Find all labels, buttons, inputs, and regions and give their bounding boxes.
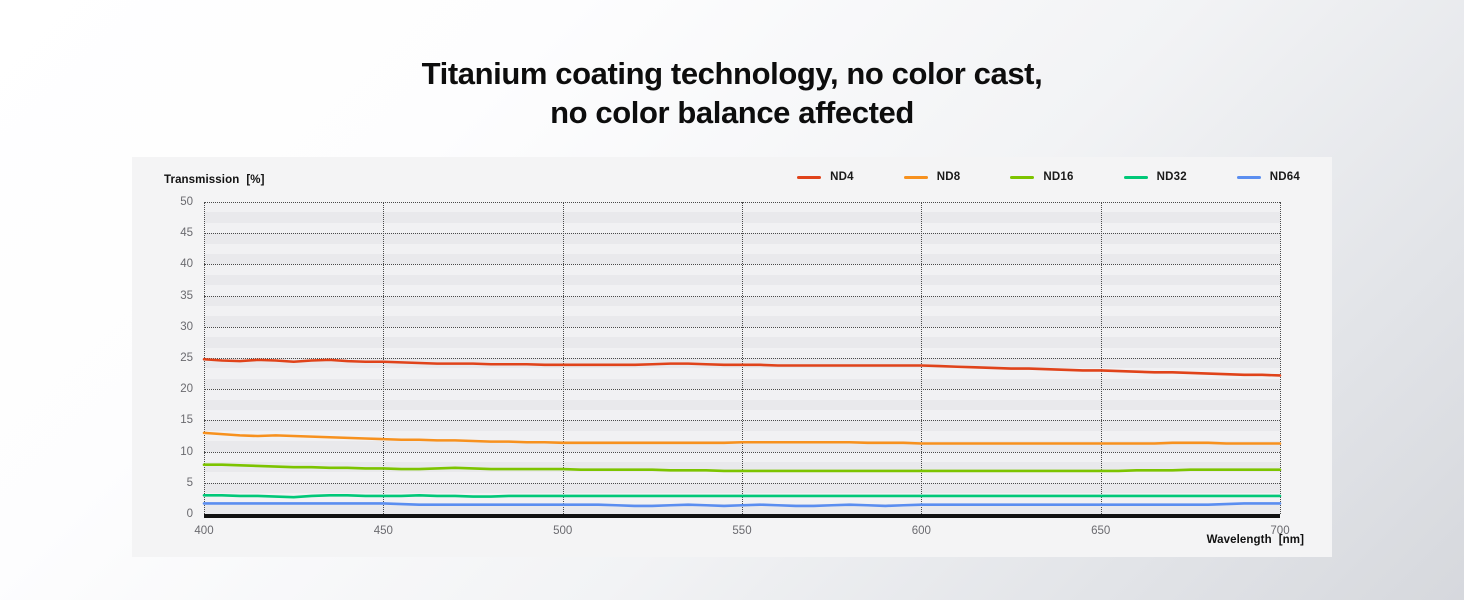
x-tick-label: 550: [732, 525, 751, 537]
y-tick-label: 25: [180, 352, 193, 364]
plot-border-vertical: [1280, 202, 1281, 514]
legend-swatch-icon: [1237, 176, 1261, 179]
x-axis-unit: [nm]: [1279, 534, 1304, 546]
y-tick-label: 50: [180, 196, 193, 208]
y-tick-label: 35: [180, 290, 193, 302]
legend-item-nd8[interactable]: ND8: [904, 171, 961, 183]
page-title-line-2: no color balance affected: [0, 93, 1464, 132]
legend-swatch-icon: [904, 176, 928, 179]
y-axis-title: Transmission[%]: [164, 174, 265, 186]
legend-item-nd32[interactable]: ND32: [1124, 171, 1187, 183]
y-tick-label: 20: [180, 383, 193, 395]
y-tick-label: 10: [180, 446, 193, 458]
data-curves: [204, 202, 1280, 514]
legend-label: ND8: [937, 171, 961, 183]
x-tick-label: 650: [1091, 525, 1110, 537]
legend-label: ND32: [1157, 171, 1187, 183]
x-tick-label: 500: [553, 525, 572, 537]
y-tick-label: 15: [180, 414, 193, 426]
chart-legend: ND4ND8ND16ND32ND64: [797, 171, 1300, 183]
legend-label: ND4: [830, 171, 854, 183]
plot-area: 05101520253035404550 4004505005506006507…: [204, 202, 1280, 514]
page-title: Titanium coating technology, no color ca…: [0, 54, 1464, 132]
y-tick-label: 40: [180, 258, 193, 270]
x-tick-label: 600: [912, 525, 931, 537]
legend-label: ND64: [1270, 171, 1300, 183]
series-line-nd4: [204, 359, 1280, 375]
series-line-nd16: [204, 465, 1280, 471]
legend-item-nd16[interactable]: ND16: [1010, 171, 1073, 183]
y-tick-label: 0: [187, 508, 193, 520]
legend-swatch-icon: [1010, 176, 1034, 179]
page-title-line-1: Titanium coating technology, no color ca…: [0, 54, 1464, 93]
legend-label: ND16: [1043, 171, 1073, 183]
series-line-nd32: [204, 495, 1280, 497]
legend-item-nd4[interactable]: ND4: [797, 171, 854, 183]
x-axis-title: Wavelength[nm]: [1207, 534, 1304, 546]
legend-item-nd64[interactable]: ND64: [1237, 171, 1300, 183]
x-tick-label: 450: [374, 525, 393, 537]
y-tick-label: 5: [187, 477, 193, 489]
x-axis-title-label: Wavelength: [1207, 534, 1272, 546]
chart-panel: Transmission[%] ND4ND8ND16ND32ND64 05101…: [132, 157, 1332, 557]
y-axis-title-label: Transmission: [164, 174, 239, 186]
x-axis-baseline: [204, 514, 1280, 518]
y-tick-label: 45: [180, 227, 193, 239]
y-tick-label: 30: [180, 321, 193, 333]
series-line-nd8: [204, 433, 1280, 444]
legend-swatch-icon: [797, 176, 821, 179]
series-line-nd64: [204, 503, 1280, 506]
legend-swatch-icon: [1124, 176, 1148, 179]
x-tick-label: 400: [194, 525, 213, 537]
y-axis-unit: [%]: [246, 174, 264, 186]
